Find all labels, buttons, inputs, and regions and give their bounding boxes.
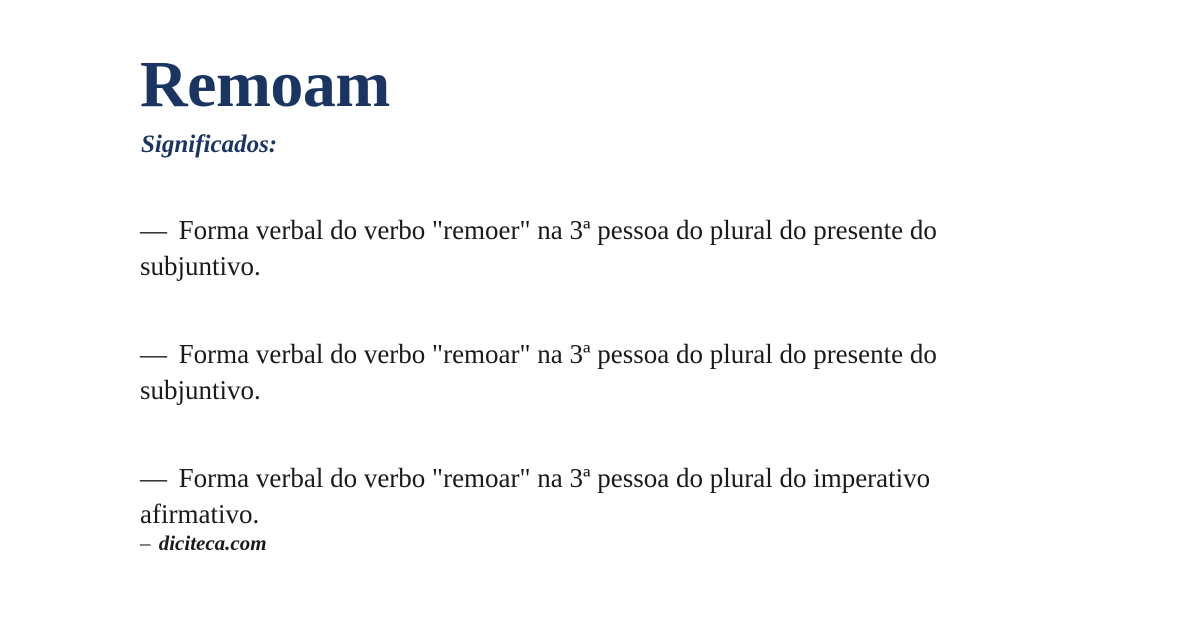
definition-item: — Forma verbal do verbo "remoer" na 3ª p… [140,212,1000,284]
source-attribution: – diciteca.com [140,533,267,554]
definition-item: — Forma verbal do verbo "remoar" na 3ª p… [140,460,1000,532]
definition-list: — Forma verbal do verbo "remoer" na 3ª p… [140,212,1000,532]
definition-text: Forma verbal do verbo "remoar" na 3ª pes… [140,339,937,405]
meanings-label: Significados: [141,132,390,157]
en-dash-marker: – [140,531,153,555]
dictionary-entry-card: Remoam Significados: — Forma verbal do v… [0,0,1200,628]
entry-header: Remoam Significados: [140,52,390,157]
em-dash-marker: — [140,463,172,493]
definition-text: Forma verbal do verbo "remoer" na 3ª pes… [140,215,937,281]
definition-item: — Forma verbal do verbo "remoar" na 3ª p… [140,336,1000,408]
em-dash-marker: — [140,339,172,369]
source-name: diciteca.com [159,531,267,555]
page-title: Remoam [140,52,390,118]
entry-footer: – diciteca.com [140,533,267,554]
em-dash-marker: — [140,215,172,245]
definition-text: Forma verbal do verbo "remoar" na 3ª pes… [140,463,930,529]
